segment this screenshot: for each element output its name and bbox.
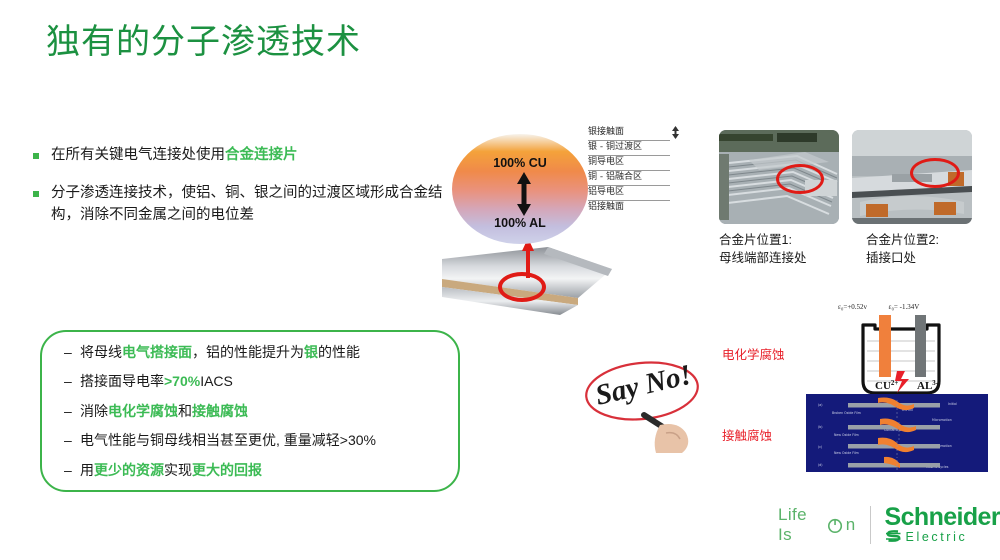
double-arrow-icon [516,172,532,216]
layer-label: 铜 - 铝融合区 [588,171,670,186]
bullet-highlight: 合金连接片 [225,147,298,163]
panel-row-right: Micromotion [932,418,952,422]
list-item: 分子渗透连接技术，使铝、铜、银之间的过渡区域形成合金结构，消除不同金属之间的电位… [33,183,443,227]
bullet-list: 在所有关键电气连接处使用合金连接片 分子渗透连接技术，使铝、铜、银之间的过渡区域… [33,145,443,242]
photo-alloy-position-1 [719,130,839,224]
panel-row-tag: (d) [818,463,823,467]
list-item: –将母线电气搭接面，铝的性能提升为银的性能 [64,343,442,362]
bullet-square-icon [33,191,39,197]
label-electrochemical-corrosion: 电化学腐蚀 [722,344,785,363]
dash-marker: – [64,461,80,480]
panel-row-tag: (b) [818,425,823,429]
benefits-box: –将母线电气搭接面，铝的性能提升为银的性能 –搭接面导电率>70%IACS –消… [40,330,460,492]
list-item: –电气性能与铜母线相当甚至更优, 重量减轻>30% [64,431,442,450]
page-title: 独有的分子渗透技术 [46,14,361,63]
footer-divider [870,506,871,544]
cu-ion-label: CU [875,380,891,392]
say-no-illustration: Say No! [582,343,717,455]
label-aluminium: 100% AL [452,216,588,230]
photo-caption-2: 合金片位置2: 插接口处 [866,231,939,267]
panel-row-tag: (c) [818,445,822,449]
up-arrow-icon [521,238,535,278]
panel-row-right: Initial [948,402,957,406]
galvanic-cell-diagram: CU2+ AL3- [845,313,957,399]
dash-marker: – [64,402,80,421]
list-item: –用更少的资源实现更大的回报 [64,461,442,480]
panel-row-left: Broken Oxide Film [832,411,861,415]
highlight-circle-icon [776,164,824,194]
layer-label: 铝接触面 [588,201,670,215]
list-item: –消除电化学腐蚀和接触腐蚀 [64,402,442,421]
gradient-ellipse: 100% CU 100% AL [452,134,588,244]
panel-row-tag: (a) [818,403,822,407]
layer-label: 铝导电区 [588,186,670,201]
layer-label: 铜导电区 [588,156,670,171]
layer-label: 银接触面 [588,126,670,141]
panel-row-left: New Oxide Film [834,451,859,455]
bullet-text: 在所有关键电气连接处使用合金连接片 [51,145,298,167]
schneider-sub: Electric [885,530,1000,544]
dash-marker: – [64,343,80,362]
label-copper: 100% CU [452,156,588,170]
photo-alloy-position-2 [852,130,972,224]
bullet-text: 分子渗透连接技术，使铝、铜、银之间的过渡区域形成合金结构，消除不同金属之间的电位… [51,183,443,227]
layer-label: 银 - 铜过渡区 [588,141,670,156]
life-is-on-tagline: Life Is n [778,505,856,545]
layer-label-list: 银接触面 银 - 铜过渡区 铜导电区 铜 - 铝融合区 铝导电区 铝接触面 [588,126,670,215]
eps-al: ε₀= -1.34V [889,303,920,311]
bullet-square-icon [33,153,39,159]
panel-row-left: New Oxide Film [834,433,859,437]
contact-corrosion-panel: (a) Broken Oxide Film 0.1 mil Initial (b… [806,394,988,472]
highlight-circle-icon [910,158,960,188]
label-contact-corrosion: 接触腐蚀 [722,425,772,444]
arrow-down-icon [672,127,679,139]
sayno-text: Say No! [592,359,694,412]
electrode-potential-values: ε₀=+0.52v ε₀= -1.34V [838,303,968,311]
slide-root: 独有的分子渗透技术 在所有关键电气连接处使用合金连接片 分子渗透连接技术，使铝、… [0,0,1000,560]
list-item: –搭接面导电率>70%IACS [64,372,442,391]
dash-marker: – [64,431,80,450]
al-ion-label: AL [917,380,932,392]
schneider-logo: Schneider Electric [885,506,1000,544]
photo-caption-1: 合金片位置1: 母线端部连接处 [719,231,807,267]
eps-cu: ε₀=+0.52v [838,303,867,311]
power-icon [827,517,843,534]
list-item: 在所有关键电气连接处使用合金连接片 [33,145,443,167]
alloy-gradient-diagram: 100% CU 100% AL [452,134,588,244]
dash-marker: – [64,372,80,391]
brand-footer: Life Is n Schneider Electric [778,505,1000,545]
schneider-mark-icon [885,530,902,543]
